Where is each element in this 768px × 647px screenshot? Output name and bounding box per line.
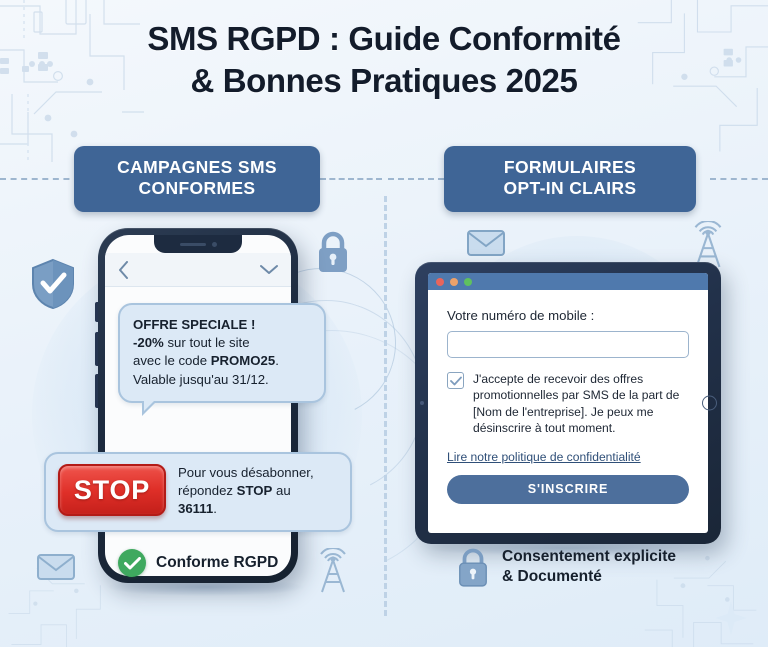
offer-line3-post: . xyxy=(275,353,279,368)
badge-line-2: CONFORMES xyxy=(94,178,300,199)
dashed-rule xyxy=(0,178,80,180)
consent-caption: Consentement explicite & Documenté xyxy=(456,546,676,588)
privacy-policy-link[interactable]: Lire notre politique de confidentialité xyxy=(447,450,689,464)
stop-line2-pre: répondez xyxy=(178,483,237,498)
phone-silent-switch xyxy=(95,302,98,322)
dashed-rule xyxy=(388,178,444,180)
consent-caption-text: Consentement explicite & Documenté xyxy=(502,547,676,588)
window-maximize-dot[interactable] xyxy=(464,278,472,286)
lock-icon xyxy=(315,230,351,274)
title-line-2: & Bonnes Pratiques 2025 xyxy=(0,60,768,102)
consent-text: J'accepte de recevoir des offres promoti… xyxy=(473,371,689,437)
check-circle-icon xyxy=(118,549,146,577)
stop-text: Pour vous désabonner, répondez STOP au 3… xyxy=(178,464,314,519)
stop-line2-post: au xyxy=(272,483,290,498)
sms-offer-bubble: OFFRE SPECIALE ! -20% sur tout le site a… xyxy=(118,303,326,403)
consent-caption-line-2: & Documenté xyxy=(502,567,676,587)
shield-check-icon xyxy=(30,258,76,310)
window-close-dot[interactable] xyxy=(436,278,444,286)
opt-in-form: Votre numéro de mobile : J'accepte de re… xyxy=(428,290,708,533)
consent-row[interactable]: J'accepte de recevoir des offres promoti… xyxy=(447,371,689,437)
window-minimize-dot[interactable] xyxy=(450,278,458,286)
stop-keyword: STOP xyxy=(237,483,273,498)
section-badge-forms: FORMULAIRES OPT-IN CLAIRS xyxy=(444,146,696,212)
compliance-label: Conforme RGPD xyxy=(156,554,278,572)
chevron-down-icon[interactable] xyxy=(260,264,278,275)
phone-volume-down-button xyxy=(95,374,98,408)
phone-notch xyxy=(154,235,242,253)
stop-button[interactable]: STOP xyxy=(58,464,166,516)
subscribe-button[interactable]: S'INSCRIRE xyxy=(447,475,689,504)
phone-volume-up-button xyxy=(95,332,98,366)
badge-line-1: FORMULAIRES xyxy=(464,157,676,178)
offer-text: OFFRE SPECIALE ! -20% sur tout le site a… xyxy=(133,316,311,389)
bubble-tail xyxy=(142,401,157,416)
badge-line-1: CAMPAGNES SMS xyxy=(94,157,300,178)
consent-caption-line-1: Consentement explicite xyxy=(502,547,676,567)
phone-speaker xyxy=(180,243,206,246)
phone-field-label: Votre numéro de mobile : xyxy=(447,308,689,323)
envelope-icon xyxy=(466,228,506,258)
phone-nav-bar xyxy=(105,253,291,287)
offer-discount: -20% xyxy=(133,335,164,350)
offer-validity: Valable jusqu'au 31/12. xyxy=(133,371,311,389)
sms-stop-bubble: STOP Pour vous désabonner, répondez STOP… xyxy=(44,452,352,532)
center-divider xyxy=(384,196,387,616)
browser-title-bar xyxy=(428,273,708,290)
sparkle-icon xyxy=(714,600,748,636)
consent-checkbox[interactable] xyxy=(447,372,464,389)
chevron-left-icon[interactable] xyxy=(118,261,129,279)
badge-line-2: OPT-IN CLAIRS xyxy=(464,178,676,199)
offer-promo-code: PROMO25 xyxy=(211,353,276,368)
compliance-badge: Conforme RGPD xyxy=(118,549,278,577)
tablet-home-button[interactable] xyxy=(702,396,717,411)
stop-line-1: Pour vous désabonner, xyxy=(178,464,314,482)
tablet-mockup: Votre numéro de mobile : J'accepte de re… xyxy=(415,262,721,544)
section-badge-campaigns: CAMPAGNES SMS CONFORMES xyxy=(74,146,320,212)
offer-line2-rest: sur tout le site xyxy=(164,335,250,350)
lock-icon xyxy=(456,546,490,588)
phone-number-input[interactable] xyxy=(447,331,689,358)
browser-window: Votre numéro de mobile : J'accepte de re… xyxy=(428,273,708,533)
envelope-icon xyxy=(36,552,76,582)
stop-line3-post: . xyxy=(213,501,217,516)
page-title: SMS RGPD : Guide Conformité & Bonnes Pra… xyxy=(0,18,768,102)
dashed-rule xyxy=(710,178,768,180)
infographic-canvas: SMS RGPD : Guide Conformité & Bonnes Pra… xyxy=(0,0,768,647)
dashed-rule xyxy=(320,178,382,180)
tablet-camera-icon xyxy=(420,401,424,405)
phone-camera-icon xyxy=(212,242,217,247)
stop-shortcode: 36111 xyxy=(178,501,213,516)
offer-line3-pre: avec le code xyxy=(133,353,211,368)
antenna-tower-icon xyxy=(314,548,352,594)
title-line-1: SMS RGPD : Guide Conformité xyxy=(0,18,768,60)
offer-heading: OFFRE SPECIALE ! xyxy=(133,317,255,332)
